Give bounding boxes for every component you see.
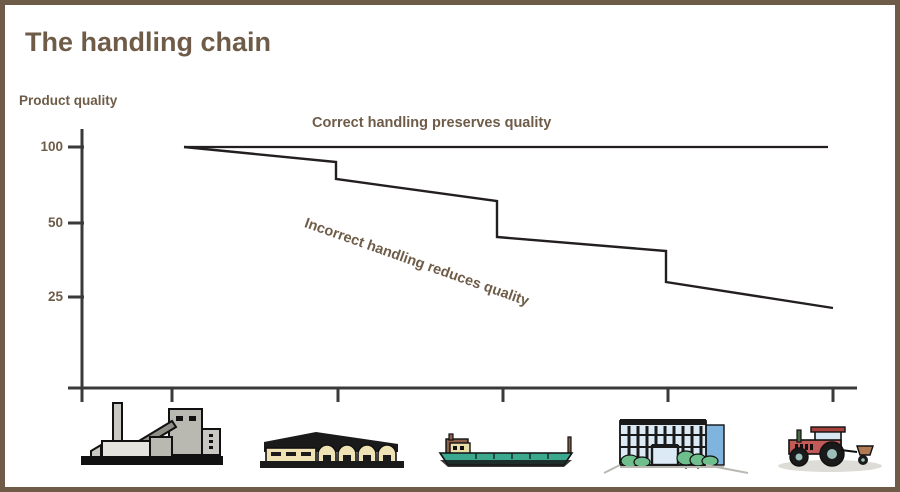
tractor-icon <box>775 422 885 474</box>
annotation-correct-handling: Correct handling preserves quality <box>312 115 551 131</box>
series-incorrect-handling <box>184 147 833 308</box>
cargo-ship-icon <box>432 429 582 473</box>
slide-canvas: The handling chain Product quality 100 5… <box>0 0 900 492</box>
processing-plant-icon <box>77 401 227 473</box>
warehouse-icon <box>258 422 408 472</box>
axis-lines <box>68 129 857 391</box>
retail-warehouse-icon <box>602 411 754 475</box>
x-tick-marks <box>82 388 833 402</box>
